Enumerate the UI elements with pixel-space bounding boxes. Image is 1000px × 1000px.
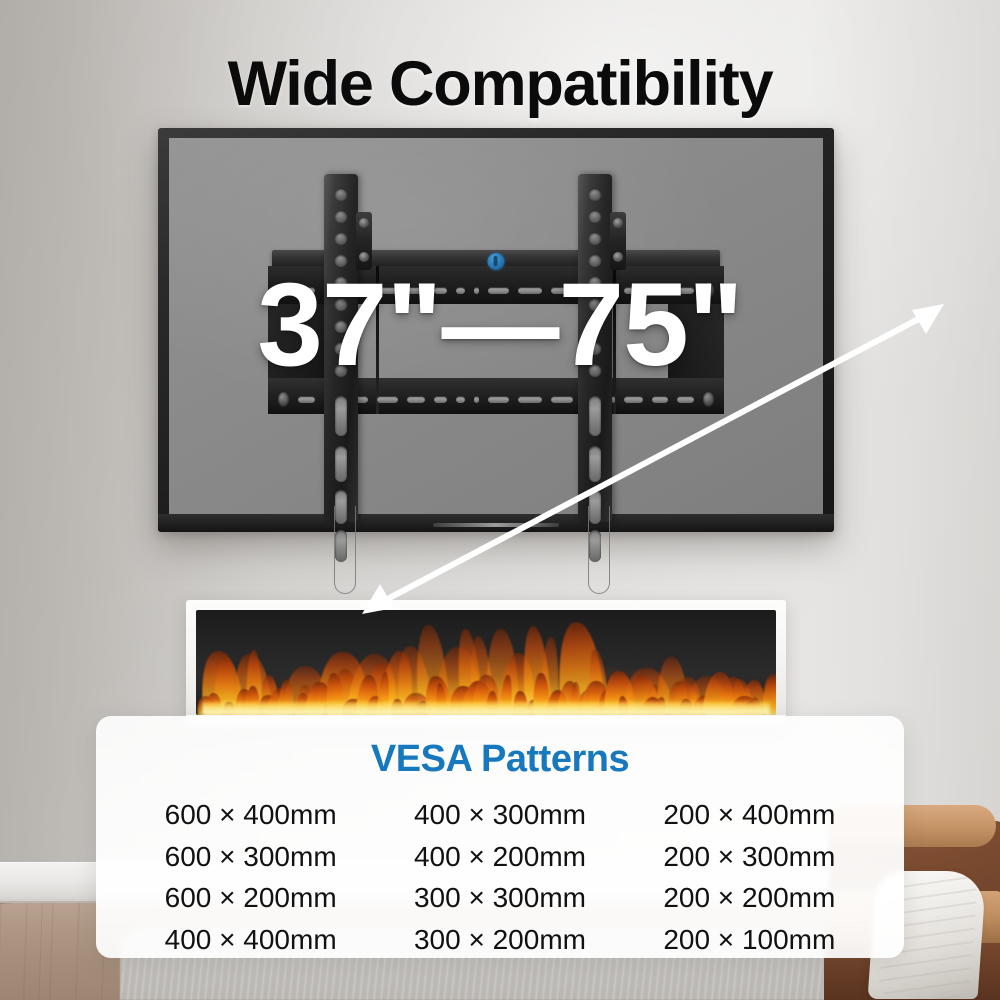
- fireplace-ember-line: [202, 702, 770, 715]
- mount-arm-hole: [335, 188, 348, 201]
- mount-arm-hole: [335, 232, 348, 245]
- vesa-pattern-cell: 200 × 300mm: [625, 838, 874, 877]
- mount-arm-hole: [335, 210, 348, 223]
- mount-arm-hole: [589, 232, 602, 245]
- vesa-patterns-panel: VESA Patterns 600 × 400mm400 × 300mm200 …: [96, 716, 904, 958]
- mount-arm-hole: [589, 210, 602, 223]
- size-range-label: 37"—75": [0, 266, 1000, 384]
- vesa-pattern-cell: 300 × 300mm: [375, 879, 624, 918]
- vesa-pattern-cell: 400 × 200mm: [375, 838, 624, 877]
- mount-slot: [298, 396, 315, 403]
- page-title: Wide Compatibility: [0, 48, 1000, 120]
- vesa-pattern-cell: 600 × 200mm: [126, 879, 375, 918]
- vesa-pattern-cell: 200 × 400mm: [625, 796, 874, 835]
- vesa-pattern-cell: 400 × 300mm: [375, 796, 624, 835]
- mount-arm-hole: [589, 188, 602, 201]
- product-marketing-image: 37"—75" Wide Compatibility VESA Patterns…: [0, 0, 1000, 1000]
- vesa-patterns-grid: 600 × 400mm400 × 300mm200 × 400mm600 × 3…: [126, 796, 874, 960]
- vesa-pattern-cell: 600 × 300mm: [126, 838, 375, 877]
- vesa-pattern-cell: 300 × 200mm: [375, 921, 624, 960]
- vesa-pattern-cell: 600 × 400mm: [126, 796, 375, 835]
- vesa-pattern-cell: 400 × 400mm: [126, 921, 375, 960]
- mount-bolt-cap: [278, 392, 289, 407]
- vesa-pattern-cell: 200 × 100mm: [625, 921, 874, 960]
- vesa-pattern-cell: 200 × 200mm: [625, 879, 874, 918]
- vesa-panel-title: VESA Patterns: [96, 738, 904, 781]
